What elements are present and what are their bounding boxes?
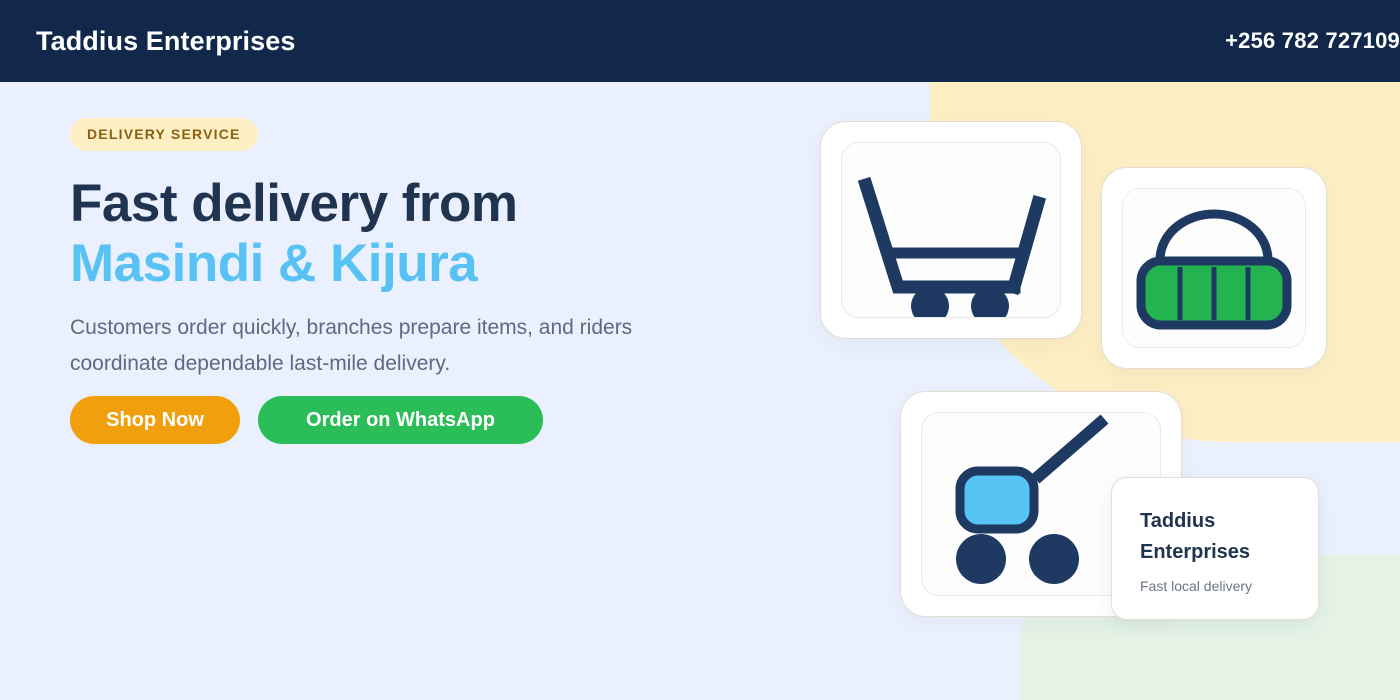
hero-paragraph: Customers order quickly, branches prepar… — [70, 310, 670, 382]
delivery-service-badge: DELIVERY SERVICE — [70, 118, 258, 151]
floating-info-card[interactable]: Taddius Enterprises Fast local delivery — [1111, 477, 1319, 620]
shop-now-button[interactable]: Shop Now — [70, 396, 240, 444]
shopping-basket-icon — [1123, 189, 1305, 347]
site-header: Taddius Enterprises +256 782 727109 — [0, 0, 1400, 82]
header-phone-number[interactable]: +256 782 727109 — [1225, 0, 1400, 82]
floating-card-title: Taddius Enterprises — [1140, 506, 1300, 568]
shopping-cart-icon — [842, 143, 1060, 317]
card-inner-frame — [1122, 188, 1306, 348]
page-title: Fast delivery from Masindi & Kijura — [70, 174, 710, 294]
order-whatsapp-button[interactable]: Order on WhatsApp — [258, 396, 543, 444]
illustration-card-cart[interactable] — [820, 121, 1082, 339]
hero-page: Taddius Enterprises +256 782 727109 DELI… — [0, 0, 1400, 700]
floating-card-subtitle: Fast local delivery — [1140, 578, 1318, 594]
card-inner-frame — [841, 142, 1061, 318]
illustration-card-basket[interactable] — [1101, 167, 1327, 369]
brand-title[interactable]: Taddius Enterprises — [36, 0, 295, 82]
headline-line-2: Masindi & Kijura — [70, 234, 710, 294]
headline-line-1: Fast delivery from — [70, 174, 518, 233]
hero-copy: DELIVERY SERVICE Fast delivery from Masi… — [70, 118, 710, 382]
